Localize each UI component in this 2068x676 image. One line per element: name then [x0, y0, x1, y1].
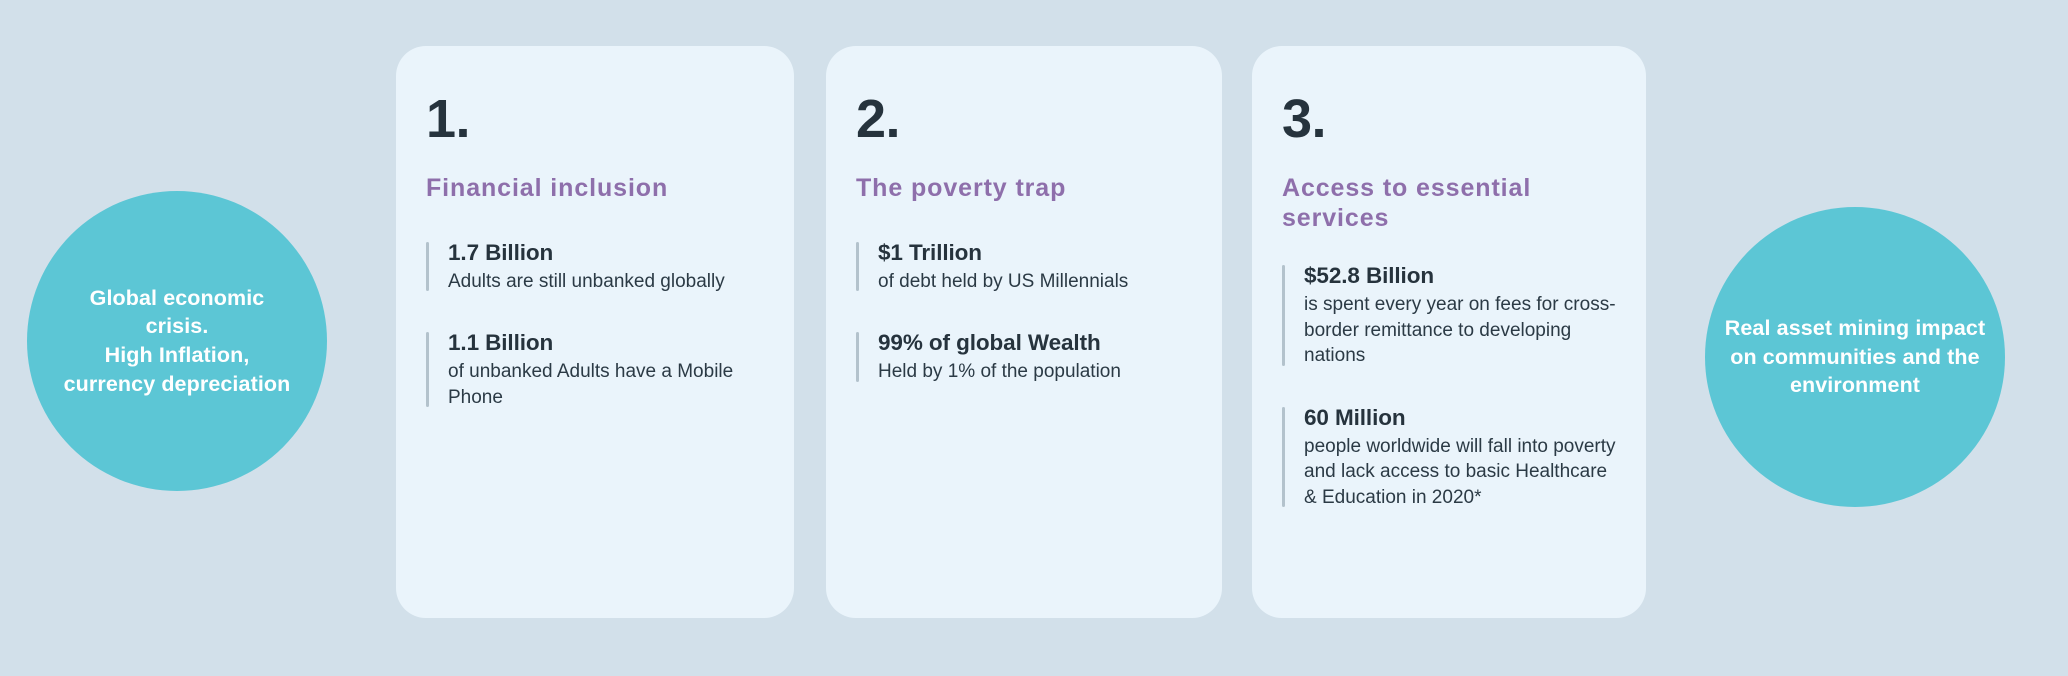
left-context-circle: Global economic crisis. High Inflation, … [27, 191, 327, 491]
infographic-canvas: Global economic crisis. High Inflation, … [0, 0, 2068, 676]
stat-description: Held by 1% of the population [878, 359, 1192, 384]
stat-value: 60 Million [1304, 403, 1616, 432]
stat-list: $1 Trillion of debt held by US Millennia… [856, 238, 1192, 385]
stat-list: 1.7 Billion Adults are still unbanked gl… [426, 238, 764, 411]
card-number: 2. [856, 92, 1192, 146]
stat-description: Adults are still unbanked globally [448, 269, 764, 294]
stat-block: $1 Trillion of debt held by US Millennia… [856, 238, 1192, 295]
right-circle-text: Real asset mining impact on communities … [1724, 314, 1986, 400]
stat-list: $52.8 Billion is spent every year on fee… [1282, 261, 1616, 510]
card-title: Financial inclusion [426, 174, 764, 204]
card-title: Access to essential services [1282, 174, 1616, 233]
card-title: The poverty trap [856, 174, 1192, 204]
stat-description: of debt held by US Millennials [878, 269, 1192, 294]
stat-block: 99% of global Wealth Held by 1% of the p… [856, 328, 1192, 385]
stat-block: 1.7 Billion Adults are still unbanked gl… [426, 238, 764, 295]
stat-value: 1.1 Billion [448, 328, 764, 357]
card-financial-inclusion: 1. Financial inclusion 1.7 Billion Adult… [396, 46, 794, 618]
stat-description: is spent every year on fees for cross-bo… [1304, 292, 1616, 368]
stat-description: of unbanked Adults have a Mobile Phone [448, 359, 764, 410]
card-number: 1. [426, 92, 764, 146]
card-number: 3. [1282, 92, 1616, 146]
stat-description: people worldwide will fall into poverty … [1304, 434, 1616, 510]
stat-value: $52.8 Billion [1304, 261, 1616, 290]
stat-block: 60 Million people worldwide will fall in… [1282, 403, 1616, 511]
card-poverty-trap: 2. The poverty trap $1 Trillion of debt … [826, 46, 1222, 618]
left-circle-text: Global economic crisis. High Inflation, … [57, 284, 297, 398]
stat-block: 1.1 Billion of unbanked Adults have a Mo… [426, 328, 764, 410]
stat-value: 99% of global Wealth [878, 328, 1192, 357]
stat-value: $1 Trillion [878, 238, 1192, 267]
stat-value: 1.7 Billion [448, 238, 764, 267]
right-context-circle: Real asset mining impact on communities … [1705, 207, 2005, 507]
card-access-essential-services: 3. Access to essential services $52.8 Bi… [1252, 46, 1646, 618]
stat-block: $52.8 Billion is spent every year on fee… [1282, 261, 1616, 369]
